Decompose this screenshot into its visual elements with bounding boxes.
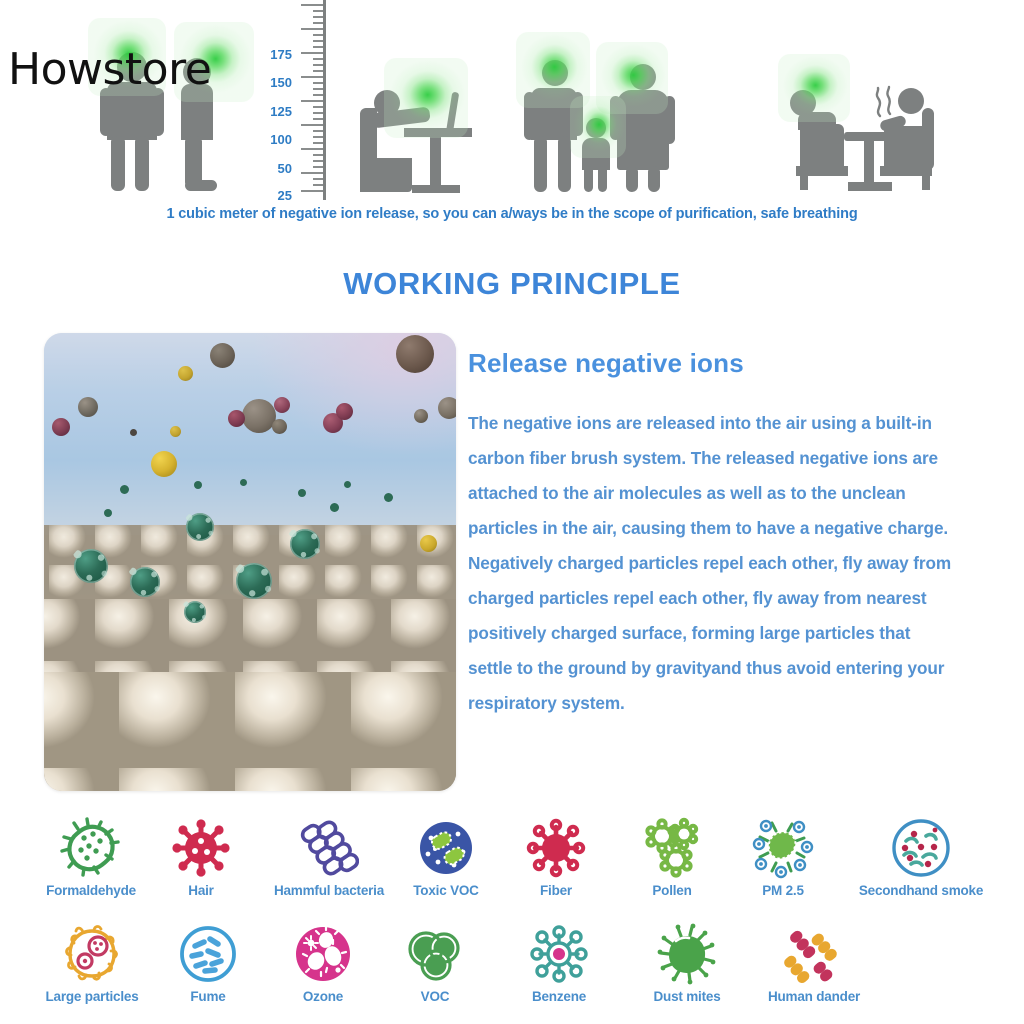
corona-virus-icon bbox=[508, 812, 604, 884]
airborne-particle bbox=[438, 397, 456, 419]
pollutant-item-benzene[interactable]: Benzene bbox=[500, 918, 618, 1004]
steam-wisp-icon bbox=[866, 82, 906, 122]
ruler-tick-50: 50 bbox=[258, 162, 292, 175]
airborne-particle bbox=[78, 397, 98, 417]
pollutant-label: Fume bbox=[160, 990, 256, 1004]
settled-germ bbox=[290, 529, 320, 559]
pollutant-label: Secondhand smoke bbox=[838, 884, 1004, 898]
airborne-particle bbox=[336, 403, 353, 420]
airborne-particle bbox=[274, 397, 290, 413]
settled-germ bbox=[236, 563, 272, 599]
pollutant-label: VOC bbox=[390, 990, 480, 1004]
photo-sphere-field-near bbox=[44, 672, 456, 791]
spiky-virus-icon bbox=[156, 812, 246, 884]
settled-germ bbox=[74, 549, 108, 583]
voc-molecule-icon bbox=[390, 918, 480, 990]
pollutant-item-formaldehyde[interactable]: Formaldehyde bbox=[26, 812, 156, 898]
figure-seat bbox=[360, 158, 412, 192]
pollutant-item-hair[interactable]: Hair bbox=[156, 812, 246, 898]
watermark-howstore: Howstore bbox=[8, 48, 211, 92]
pollutant-item-harmful-bacteria[interactable]: Hammful bacteria bbox=[250, 812, 408, 898]
pollen-grains-icon bbox=[622, 812, 722, 884]
petri-dish-icon bbox=[398, 812, 494, 884]
dander-flakes-icon bbox=[744, 918, 884, 990]
airborne-particle bbox=[414, 409, 428, 423]
chair-leg bbox=[922, 172, 930, 190]
figure-foot bbox=[185, 180, 217, 191]
figure-leg-left bbox=[111, 136, 125, 191]
settled-speck bbox=[120, 485, 129, 494]
airborne-particle bbox=[170, 426, 181, 437]
benzene-ring-icon bbox=[500, 918, 618, 990]
ion-glow-panel bbox=[384, 58, 468, 138]
airborne-particle bbox=[130, 429, 137, 436]
pollutant-label: Dust mites bbox=[626, 990, 748, 1004]
airborne-particle bbox=[228, 410, 245, 427]
chain-bacteria-icon bbox=[250, 812, 408, 884]
pollutant-item-human-dander[interactable]: Human dander bbox=[744, 918, 884, 1004]
table-base bbox=[848, 182, 892, 191]
ion-glow-panel bbox=[778, 54, 850, 122]
pollutant-icon-grid: Formaldehyde bbox=[0, 812, 1024, 1024]
settled-germ bbox=[184, 601, 206, 623]
settled-speck bbox=[330, 503, 339, 512]
airborne-particle bbox=[151, 451, 177, 477]
pollutant-row-2: Large particles Fume bbox=[0, 918, 1024, 1024]
table-stem bbox=[864, 138, 874, 188]
settled-germ bbox=[186, 513, 214, 541]
pollutant-label: Toxic VOC bbox=[398, 884, 494, 898]
settled-speck bbox=[344, 481, 351, 488]
ruler-tick-25: 25 bbox=[258, 189, 292, 202]
settled-speck bbox=[104, 509, 112, 517]
pollutant-item-secondhand-smoke[interactable]: Secondhand smoke bbox=[838, 812, 1004, 898]
pollutant-item-fiber[interactable]: Fiber bbox=[508, 812, 604, 898]
airborne-particle bbox=[242, 399, 276, 433]
pollutant-item-pm25[interactable]: PM 2.5 bbox=[736, 812, 830, 898]
smoke-circle-icon bbox=[838, 812, 1004, 884]
dust-mite-icon bbox=[626, 918, 748, 990]
pollutant-item-ozone[interactable]: Ozone bbox=[268, 918, 378, 1004]
pollutant-row-1: Formaldehyde bbox=[0, 812, 1024, 918]
photo-sky bbox=[44, 333, 456, 553]
ruler-tick-150: 150 bbox=[258, 76, 292, 89]
airborne-particle bbox=[52, 418, 70, 436]
pollutant-label: Fiber bbox=[508, 884, 604, 898]
settled-speck bbox=[240, 479, 247, 486]
child-leg-right bbox=[598, 166, 607, 192]
pollutant-label: Human dander bbox=[744, 990, 884, 1004]
pollutant-item-toxic-voc[interactable]: Toxic VOC bbox=[398, 812, 494, 898]
pollutant-item-large-particles[interactable]: Large particles bbox=[22, 918, 162, 1004]
height-ruler bbox=[296, 0, 326, 200]
ruler-tick-100: 100 bbox=[258, 133, 292, 146]
desk-foot bbox=[412, 185, 460, 193]
desk-leg bbox=[430, 134, 441, 192]
figure-leg-right bbox=[135, 136, 149, 191]
figure-leg-left bbox=[626, 166, 638, 192]
pollutant-label: PM 2.5 bbox=[736, 884, 830, 898]
principle-photo bbox=[44, 333, 456, 791]
pollutant-item-pollen[interactable]: Pollen bbox=[622, 812, 722, 898]
ruler-tick-175: 175 bbox=[258, 48, 292, 61]
airborne-particle bbox=[272, 419, 287, 434]
pollutant-label: Ozone bbox=[268, 990, 378, 1004]
airborne-particle bbox=[396, 335, 434, 373]
pollutant-item-dust-mites[interactable]: Dust mites bbox=[626, 918, 748, 1004]
settled-germ bbox=[130, 567, 160, 597]
ruler-tick-125: 125 bbox=[258, 105, 292, 118]
hero-illustration: 175 150 125 100 50 25 Ho bbox=[0, 0, 1024, 240]
ion-glow-panel bbox=[570, 96, 626, 158]
pollutant-item-voc[interactable]: VOC bbox=[390, 918, 480, 1004]
chair-back bbox=[922, 108, 934, 170]
fume-circle-icon bbox=[160, 918, 256, 990]
pollutant-label: Hammful bacteria bbox=[250, 884, 408, 898]
ruler-spine bbox=[323, 0, 326, 200]
settled-speck bbox=[384, 493, 393, 502]
airborne-particle bbox=[210, 343, 235, 368]
pollutant-item-fume[interactable]: Fume bbox=[160, 918, 256, 1004]
airborne-particle bbox=[178, 366, 193, 381]
settled-speck bbox=[194, 481, 202, 489]
hero-caption: 1 cubic meter of negative ion release, s… bbox=[0, 206, 1024, 222]
settled-speck bbox=[298, 489, 306, 497]
pollutant-label: Hair bbox=[156, 884, 246, 898]
figure-leg-left bbox=[534, 136, 547, 192]
large-particle-icon bbox=[22, 918, 162, 990]
figure-body bbox=[800, 124, 844, 170]
principle-body: The negative ions are released into the … bbox=[468, 406, 958, 721]
pollutant-label: Formaldehyde bbox=[26, 884, 156, 898]
child-leg-left bbox=[584, 166, 593, 192]
pollutant-label: Pollen bbox=[622, 884, 722, 898]
pollutant-label: Benzene bbox=[500, 990, 618, 1004]
pm25-particle-icon bbox=[736, 812, 830, 884]
pollutant-label: Large particles bbox=[22, 990, 162, 1004]
airborne-particle bbox=[420, 535, 437, 552]
principle-heading: Release negative ions bbox=[468, 348, 744, 379]
ozone-circle-icon bbox=[268, 918, 378, 990]
page-title: WORKING PRINCIPLE bbox=[0, 266, 1024, 302]
rod-bacteria-icon bbox=[26, 812, 156, 884]
figure-leg-right bbox=[648, 166, 660, 192]
chair-leg bbox=[800, 172, 808, 190]
